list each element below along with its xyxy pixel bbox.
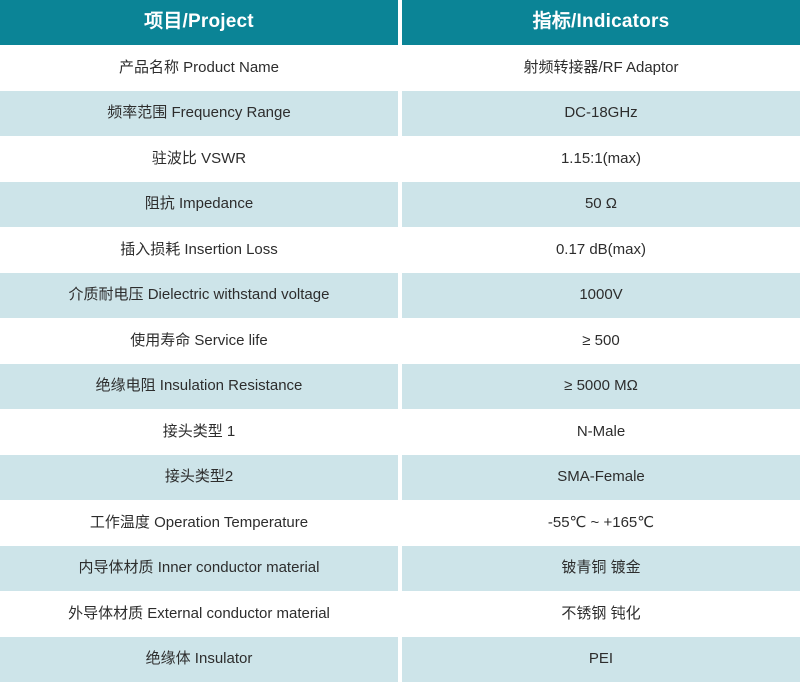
cell-indicator: 50 Ω — [402, 182, 800, 228]
cell-text-indicator: ≥ 500 — [582, 332, 619, 350]
cell-text-project: 绝缘体 Insulator — [146, 650, 253, 668]
table-row: 绝缘电阻 Insulation Resistance ≥ 5000 MΩ — [0, 364, 800, 410]
cell-project: 频率范围 Frequency Range — [0, 91, 398, 137]
cell-text-indicator: 射频转接器/RF Adaptor — [523, 59, 678, 77]
cell-indicator: 不锈钢 钝化 — [402, 591, 800, 637]
cell-text-project: 内导体材质 Inner conductor material — [79, 559, 320, 577]
cell-project: 外导体材质 External conductor material — [0, 591, 398, 637]
cell-indicator: ≥ 500 — [402, 318, 800, 364]
cell-text-indicator: 0.17 dB(max) — [556, 241, 646, 259]
cell-indicator: 0.17 dB(max) — [402, 227, 800, 273]
cell-text-project: 工作温度 Operation Temperature — [90, 514, 308, 532]
table-header-row: 项目/Project 指标/Indicators — [0, 0, 800, 45]
cell-text-project: 阻抗 Impedance — [145, 195, 253, 213]
table-row: 频率范围 Frequency Range DC-18GHz — [0, 91, 800, 137]
table-row: 绝缘体 Insulator PEI — [0, 637, 800, 682]
cell-indicator: 铍青铜 镀金 — [402, 546, 800, 592]
table-row: 外导体材质 External conductor material 不锈钢 钝化 — [0, 591, 800, 637]
cell-indicator: ≥ 5000 MΩ — [402, 364, 800, 410]
cell-indicator: N-Male — [402, 409, 800, 455]
cell-text-indicator: PEI — [589, 650, 613, 668]
cell-text-project: 频率范围 Frequency Range — [107, 104, 290, 122]
table-row: 内导体材质 Inner conductor material 铍青铜 镀金 — [0, 546, 800, 592]
table-row: 产品名称 Product Name 射频转接器/RF Adaptor — [0, 45, 800, 91]
cell-indicator: SMA-Female — [402, 455, 800, 501]
table-row: 接头类型 1 N-Male — [0, 409, 800, 455]
cell-project: 使用寿命 Service life — [0, 318, 398, 364]
table-row: 使用寿命 Service life ≥ 500 — [0, 318, 800, 364]
table-row: 驻波比 VSWR 1.15:1(max) — [0, 136, 800, 182]
cell-text-project: 插入损耗 Insertion Loss — [120, 241, 278, 259]
cell-project: 绝缘电阻 Insulation Resistance — [0, 364, 398, 410]
cell-indicator: -55℃ ~ +165℃ — [402, 500, 800, 546]
cell-indicator: 1.15:1(max) — [402, 136, 800, 182]
cell-text-project: 产品名称 Product Name — [119, 59, 279, 77]
cell-project: 接头类型2 — [0, 455, 398, 501]
table-row: 工作温度 Operation Temperature -55℃ ~ +165℃ — [0, 500, 800, 546]
cell-indicator: 射频转接器/RF Adaptor — [402, 45, 800, 91]
cell-text-indicator: N-Male — [577, 423, 625, 441]
cell-text-project: 介质耐电压 Dielectric withstand voltage — [69, 286, 330, 304]
cell-text-project: 驻波比 VSWR — [152, 150, 246, 168]
cell-text-project: 接头类型2 — [165, 468, 233, 486]
cell-text-indicator: SMA-Female — [557, 468, 645, 486]
cell-project: 插入损耗 Insertion Loss — [0, 227, 398, 273]
header-cell-project: 项目/Project — [0, 0, 398, 45]
table-row: 插入损耗 Insertion Loss 0.17 dB(max) — [0, 227, 800, 273]
cell-text-indicator: DC-18GHz — [564, 104, 637, 122]
cell-text-indicator: 1.15:1(max) — [561, 150, 641, 168]
cell-project: 内导体材质 Inner conductor material — [0, 546, 398, 592]
cell-text-project: 接头类型 1 — [163, 423, 236, 441]
cell-project: 阻抗 Impedance — [0, 182, 398, 228]
cell-indicator: PEI — [402, 637, 800, 682]
cell-text-project: 使用寿命 Service life — [130, 332, 268, 350]
cell-text-indicator: 50 Ω — [585, 195, 617, 213]
header-label-project: 项目/Project — [144, 11, 254, 34]
header-label-indicator: 指标/Indicators — [533, 11, 670, 34]
table-row: 介质耐电压 Dielectric withstand voltage 1000V — [0, 273, 800, 319]
cell-project: 工作温度 Operation Temperature — [0, 500, 398, 546]
specification-table: 项目/Project 指标/Indicators 产品名称 Product Na… — [0, 0, 800, 679]
cell-project: 产品名称 Product Name — [0, 45, 398, 91]
cell-text-indicator: 铍青铜 镀金 — [561, 559, 640, 577]
cell-text-indicator: ≥ 5000 MΩ — [564, 377, 638, 395]
cell-project: 介质耐电压 Dielectric withstand voltage — [0, 273, 398, 319]
table-row: 阻抗 Impedance 50 Ω — [0, 182, 800, 228]
cell-text-project: 绝缘电阻 Insulation Resistance — [96, 377, 303, 395]
table-row: 接头类型2 SMA-Female — [0, 455, 800, 501]
cell-project: 驻波比 VSWR — [0, 136, 398, 182]
header-cell-indicator: 指标/Indicators — [402, 0, 800, 45]
cell-project: 接头类型 1 — [0, 409, 398, 455]
cell-indicator: DC-18GHz — [402, 91, 800, 137]
cell-project: 绝缘体 Insulator — [0, 637, 398, 682]
cell-text-indicator: -55℃ ~ +165℃ — [548, 514, 654, 532]
cell-text-project: 外导体材质 External conductor material — [68, 605, 330, 623]
cell-indicator: 1000V — [402, 273, 800, 319]
cell-text-indicator: 不锈钢 钝化 — [561, 605, 640, 623]
cell-text-indicator: 1000V — [579, 286, 622, 304]
